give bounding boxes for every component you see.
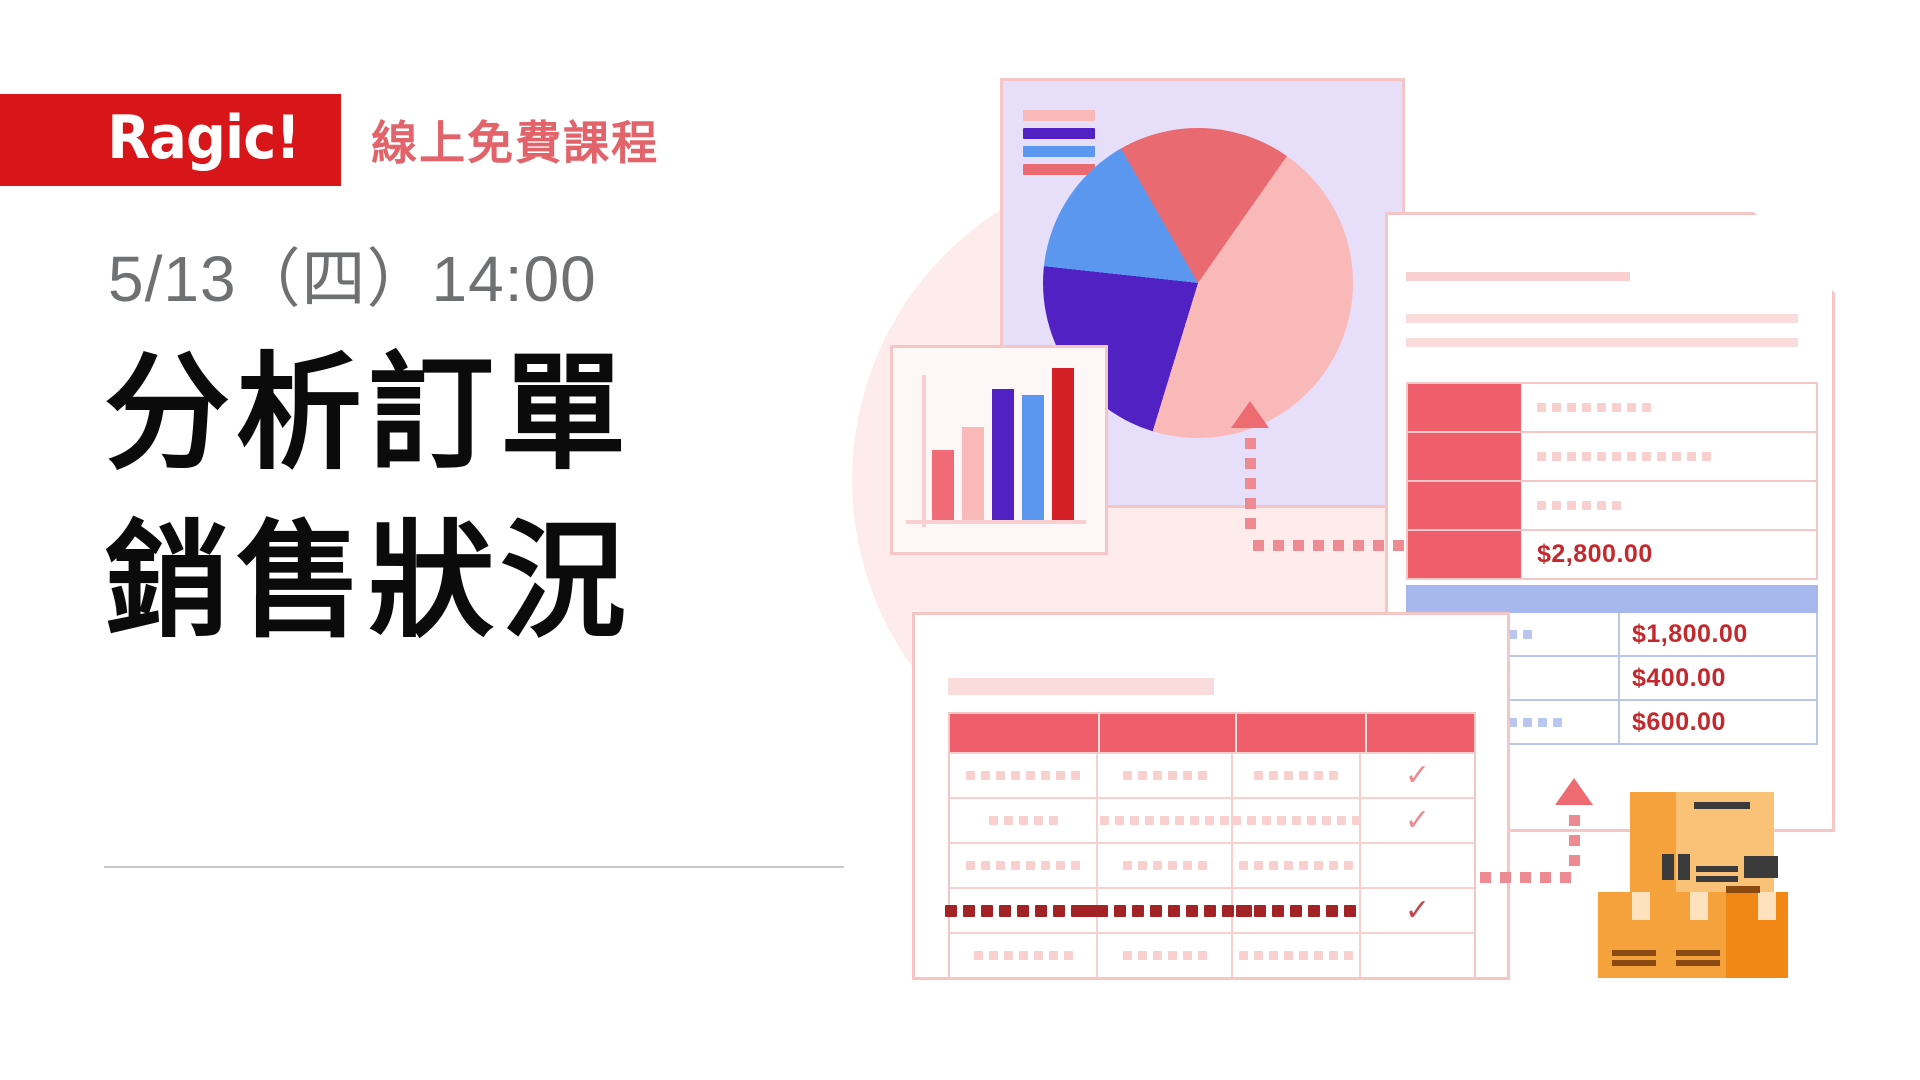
table-row: ✓ [950, 752, 1474, 797]
legend-swatch-blue [1023, 146, 1095, 157]
table-cell [1098, 799, 1233, 842]
placeholder-dots [1239, 861, 1353, 870]
table-cell [1098, 934, 1233, 977]
table-header-cell [1237, 714, 1367, 752]
placeholder-dots [1236, 905, 1356, 917]
invoice-label-cell [1408, 384, 1521, 431]
blue-table-header [1406, 585, 1818, 613]
arrow-up-to-pie [1231, 401, 1269, 428]
dash-segment [1353, 540, 1364, 551]
dash-segment [1480, 872, 1491, 883]
placeholder-dots [1123, 771, 1207, 780]
placeholder-dots [974, 951, 1073, 960]
placeholder-dots [966, 861, 1080, 870]
legend-swatch-pink [1023, 110, 1095, 121]
dash-segment [1393, 540, 1404, 551]
table-header-cell [950, 714, 1100, 752]
dash-segment [1520, 872, 1531, 883]
dash-segment [1560, 872, 1571, 883]
check-icon: ✓ [1405, 806, 1430, 836]
placeholder-dots [1078, 905, 1252, 917]
dash-segment [1540, 872, 1551, 883]
blue-amount-cell: $1,800.00 [1620, 613, 1816, 655]
legend-swatch-purple [1023, 128, 1095, 139]
dash-segment [1245, 478, 1256, 489]
dash-segment [1313, 540, 1324, 551]
dash-segment [1373, 540, 1384, 551]
blue-amount-cell: $400.00 [1620, 657, 1816, 699]
table-row [1408, 384, 1816, 433]
invoice-label-cell [1408, 482, 1521, 529]
bar-chart-bar [1052, 368, 1074, 520]
table-cell-status: ✓ [1361, 799, 1474, 842]
table-cell [1233, 799, 1361, 842]
invoice-label-cell [1408, 531, 1521, 578]
table-cell-status [1361, 934, 1474, 977]
table-row: ✓ [950, 887, 1474, 932]
table-row: $2,800.00 [1408, 531, 1816, 578]
sheet-title-line [1406, 272, 1630, 281]
sheet-sub-line-1 [1406, 314, 1798, 323]
bar-chart-x-axis [906, 520, 1086, 524]
pie-legend [1023, 110, 1095, 182]
table-cell [1233, 934, 1361, 977]
table-cell [1233, 844, 1361, 887]
bar-chart-bar [992, 389, 1014, 520]
table-row [1408, 482, 1816, 531]
table-cell [950, 799, 1098, 842]
table-header-cell [1100, 714, 1237, 752]
bar-chart-bar [962, 427, 984, 520]
placeholder-dots [989, 816, 1058, 825]
dash-segment [1569, 855, 1580, 866]
invoice-value-cell [1521, 482, 1816, 529]
check-icon: ✓ [1405, 896, 1430, 926]
amount-value: $2,800.00 [1537, 540, 1653, 569]
placeholder-dots [1537, 501, 1621, 510]
dash-segment [1245, 498, 1256, 509]
placeholder-dots [1123, 951, 1207, 960]
table-cell-status: ✓ [1361, 754, 1474, 797]
order-table: ✓✓✓ [948, 712, 1476, 979]
arrow-up-to-invoice [1555, 778, 1593, 805]
table-row [1408, 433, 1816, 482]
dash-segment [1245, 518, 1256, 529]
table-cell [1233, 889, 1361, 932]
dashed-line-horizontal-1 [1253, 540, 1404, 551]
dash-segment [1500, 872, 1511, 883]
dash-segment [1569, 815, 1580, 826]
table-cell [950, 844, 1098, 887]
promo-banner: Ragic! 線上免費課程 5/13（四）14:00 分析訂單 銷售狀況 $2,… [0, 0, 1920, 1080]
invoice-label-cell [1408, 433, 1521, 480]
table-cell-status [1361, 844, 1474, 887]
table-row: ✓ [950, 797, 1474, 842]
placeholder-dots [1537, 403, 1651, 412]
dash-segment [1245, 458, 1256, 469]
dashed-line-vertical-2 [1569, 815, 1580, 866]
table-cell [1233, 754, 1361, 797]
table-row [950, 932, 1474, 977]
amount-value: $400.00 [1632, 664, 1726, 693]
table-cell [950, 889, 1098, 932]
placeholder-dots [966, 771, 1080, 780]
amount-value: $1,800.00 [1632, 620, 1748, 649]
bar-chart-bar [1022, 395, 1044, 520]
table-cell [1098, 844, 1233, 887]
table-cell [950, 754, 1098, 797]
placeholder-dots [1239, 951, 1353, 960]
dash-segment [1293, 540, 1304, 551]
dash-segment [1569, 835, 1580, 846]
bar-chart-y-axis [922, 375, 926, 527]
table-cell [1098, 889, 1233, 932]
table-cell [950, 934, 1098, 977]
dash-segment [1253, 540, 1264, 551]
table-cell-status: ✓ [1361, 889, 1474, 932]
table-row [950, 842, 1474, 887]
blue-amount-cell: $600.00 [1620, 701, 1816, 743]
check-icon: ✓ [1405, 761, 1430, 791]
bar-chart-bar [932, 450, 954, 520]
placeholder-dots [1100, 816, 1229, 825]
package-boxes [1598, 782, 1818, 982]
order-table-title-bar [948, 678, 1214, 695]
invoice-amount-table: $2,800.00 [1406, 382, 1818, 580]
bar-chart-bars [932, 368, 1082, 520]
table-header-row [950, 714, 1474, 752]
invoice-value-cell [1521, 433, 1816, 480]
invoice-value-cell: $2,800.00 [1521, 531, 1816, 578]
amount-value: $600.00 [1632, 708, 1726, 737]
boxes-icon [1598, 782, 1818, 982]
invoice-value-cell [1521, 384, 1816, 431]
dash-segment [1245, 438, 1256, 449]
dashed-line-vertical-1 [1245, 438, 1256, 529]
placeholder-dots [1232, 816, 1361, 825]
illustration: $2,800.00 $1,800.00$400.00$600.00 ✓✓✓ [0, 0, 1920, 1080]
dash-segment [1273, 540, 1284, 551]
dashed-line-horizontal-2 [1480, 872, 1571, 883]
legend-swatch-red [1023, 164, 1095, 175]
placeholder-dots [1123, 861, 1207, 870]
table-cell [1098, 754, 1233, 797]
sheet-sub-line-2 [1406, 338, 1798, 347]
placeholder-dots [1254, 771, 1338, 780]
placeholder-dots [1537, 452, 1711, 461]
table-header-cell [1367, 714, 1474, 752]
dash-segment [1333, 540, 1344, 551]
